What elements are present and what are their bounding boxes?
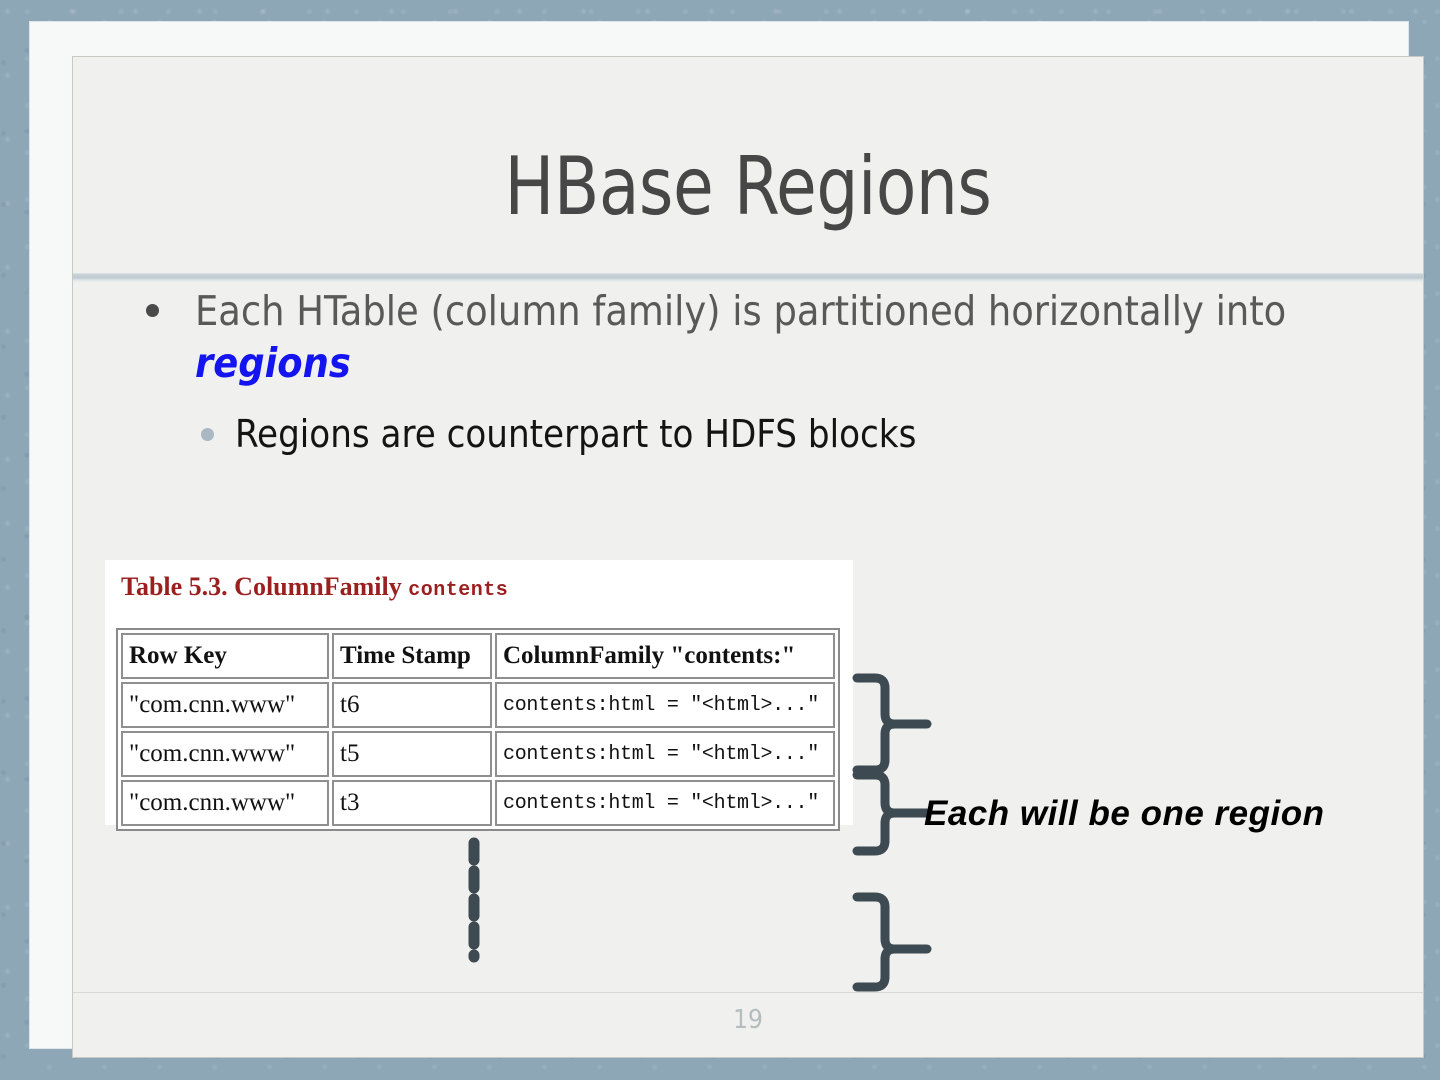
- brace-region-2: [857, 775, 895, 851]
- bullet-level2-text: Regions are counterpart to HDFS blocks: [235, 412, 916, 456]
- figure-caption-main: Table 5.3. ColumnFamily: [121, 572, 408, 601]
- cell-timestamp: t3: [332, 780, 492, 826]
- column-header-time-stamp: Time Stamp: [332, 633, 492, 679]
- keyword-regions: regions: [195, 339, 351, 387]
- bullet-dot-icon: [146, 304, 159, 317]
- cell-row-key: "com.cnn.www": [121, 780, 329, 826]
- columnfamily-table: Row Key Time Stamp ColumnFamily "content…: [116, 628, 840, 831]
- slide-mat: HBase Regions Each HTable (column family…: [30, 22, 1408, 1048]
- title-divider: [73, 273, 1423, 282]
- table-row: "com.cnn.www" t3 contents:html = "<html>…: [121, 780, 835, 826]
- title-area: HBase Regions: [73, 57, 1423, 273]
- table-header-row: Row Key Time Stamp ColumnFamily "content…: [121, 633, 835, 679]
- column-header-columnfamily: ColumnFamily "contents:": [495, 633, 835, 679]
- figure-columnfamily-contents: Table 5.3. ColumnFamily contents Row Key…: [105, 560, 853, 825]
- bullet-level2: Regions are counterpart to HDFS blocks: [73, 412, 1423, 458]
- cell-contents: contents:html = "<html>...": [495, 731, 835, 777]
- page-title: HBase Regions: [127, 147, 1369, 227]
- column-header-row-key: Row Key: [121, 633, 329, 679]
- footer-divider: [73, 992, 1423, 993]
- cell-contents: contents:html = "<html>...": [495, 682, 835, 728]
- bullet-level1: Each HTable (column family) is partition…: [73, 285, 1423, 390]
- figure-caption-mono: contents: [408, 579, 508, 602]
- cell-contents: contents:html = "<html>...": [495, 780, 835, 826]
- slide-canvas: HBase Regions Each HTable (column family…: [72, 56, 1424, 1058]
- brace-region-3: [857, 897, 895, 987]
- bullet-level1-text: Each HTable (column family) is partition…: [195, 287, 1286, 335]
- cell-timestamp: t6: [332, 682, 492, 728]
- cell-timestamp: t5: [332, 731, 492, 777]
- table-row: "com.cnn.www" t6 contents:html = "<html>…: [121, 682, 835, 728]
- figure-caption: Table 5.3. ColumnFamily contents: [121, 572, 508, 602]
- region-annotation-label: Each will be one region: [924, 794, 1324, 834]
- page-number: 19: [73, 1005, 1423, 1035]
- table-row: "com.cnn.www" t5 contents:html = "<html>…: [121, 731, 835, 777]
- cell-row-key: "com.cnn.www": [121, 682, 329, 728]
- brace-region-1: [857, 678, 895, 770]
- cell-row-key: "com.cnn.www": [121, 731, 329, 777]
- sub-bullet-dot-icon: [201, 428, 214, 441]
- body-content: Each HTable (column family) is partition…: [73, 285, 1423, 458]
